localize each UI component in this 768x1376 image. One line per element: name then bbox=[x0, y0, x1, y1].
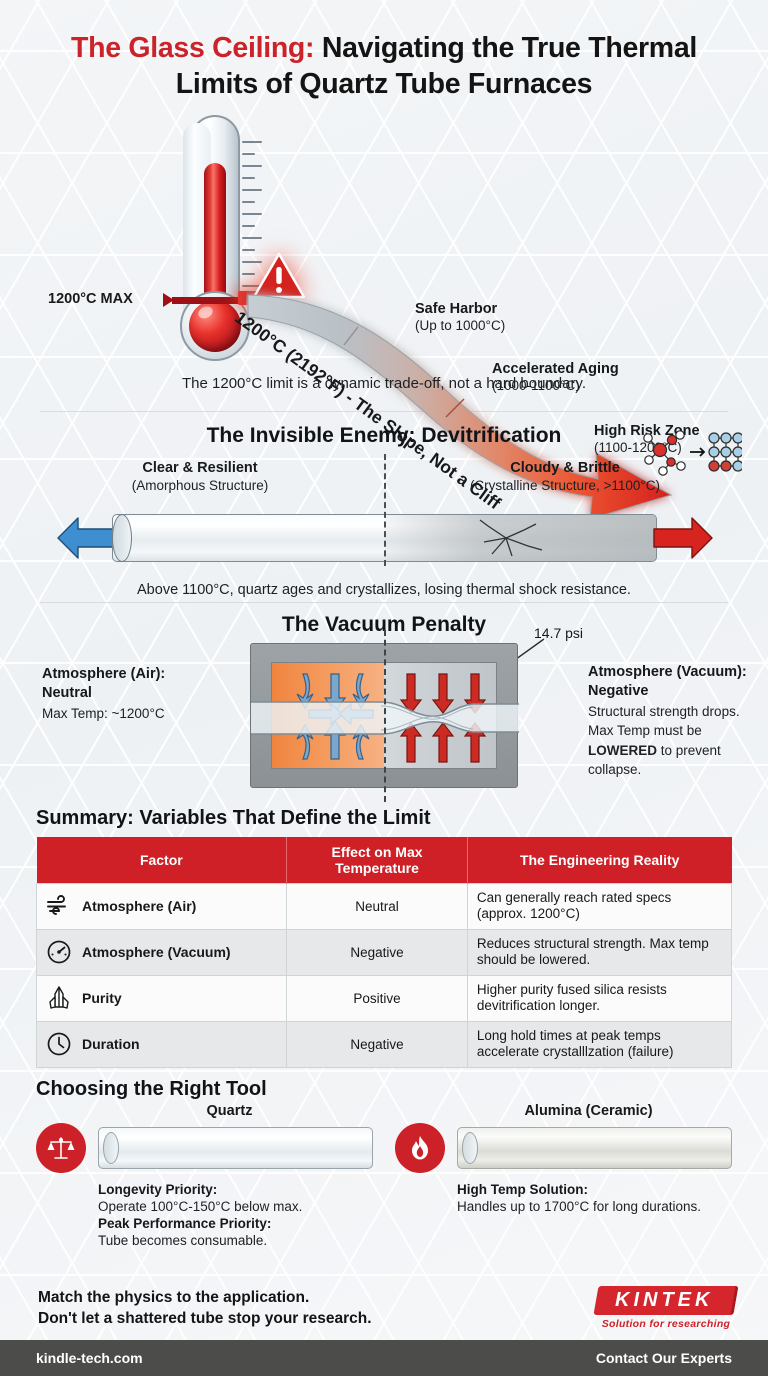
footer-cta-link[interactable]: Contact Our Experts bbox=[596, 1350, 732, 1366]
air-body: Max Temp: ~1200°C bbox=[42, 705, 227, 723]
table-row: Purity Positive Higher purity fused sili… bbox=[37, 975, 732, 1021]
devitrification-section: The Invisible Enemy: Devitrification bbox=[0, 412, 768, 602]
vacuum-penalty-section: The Vacuum Penalty Atmosphere (Air): Neu… bbox=[0, 603, 768, 803]
devitrification-right-label: Cloudy & Brittle (Crystalline Structure,… bbox=[400, 460, 730, 494]
label-title: Clear & Resilient bbox=[60, 460, 340, 478]
thermometer-caption: The 1200°C limit is a dynamic trade-off,… bbox=[0, 375, 768, 392]
cell-effect: Neutral bbox=[287, 883, 468, 929]
vacuum-title-2: Negative bbox=[588, 682, 764, 701]
vacuum-body-2: Max Temp must be bbox=[588, 722, 764, 740]
air-title-1: Atmosphere (Air): bbox=[42, 665, 227, 684]
vacuum-title-1: Atmosphere (Vacuum): bbox=[588, 663, 764, 682]
tool-card-quartz: Quartz L bbox=[36, 1103, 373, 1249]
cta-text: Match the physics to the application. Do… bbox=[38, 1288, 372, 1330]
cta-line-1: Match the physics to the application. bbox=[38, 1288, 372, 1309]
page-footer: kindle-tech.com Contact Our Experts bbox=[0, 1340, 768, 1376]
column-header-effect: Effect on Max Temperature bbox=[287, 837, 468, 884]
quartz-tube-diagram bbox=[0, 508, 768, 570]
note-title: Peak Performance Priority: bbox=[98, 1215, 373, 1232]
kintek-logo: KINTEK Solution for researching bbox=[596, 1286, 736, 1330]
devitrification-caption: Above 1100°C, quartz ages and crystalliz… bbox=[0, 582, 768, 598]
table-row: Atmosphere (Air) Neutral Can generally r… bbox=[37, 883, 732, 929]
vacuum-body-3-rest: to prevent bbox=[657, 743, 721, 758]
gauge-icon bbox=[46, 939, 72, 965]
tool-name: Quartz bbox=[36, 1103, 373, 1119]
air-title-2: Neutral bbox=[42, 684, 227, 703]
cell-effect: Negative bbox=[287, 1021, 468, 1067]
vacuum-divider bbox=[384, 630, 386, 802]
vacuum-body-1: Structural strength drops. bbox=[588, 703, 764, 721]
cell-reality: Long hold times at peak temps accelerate… bbox=[467, 1021, 731, 1067]
summary-table: Factor Effect on Max Temperature The Eng… bbox=[36, 837, 732, 1068]
note-body: Tube becomes consumable. bbox=[98, 1232, 373, 1249]
column-header-factor: Factor bbox=[37, 837, 287, 884]
tool-grid: Quartz L bbox=[36, 1103, 732, 1249]
vacuum-air-label: Atmosphere (Air): Neutral Max Temp: ~120… bbox=[42, 665, 227, 722]
table-row: Atmosphere (Vacuum) Negative Reduces str… bbox=[37, 929, 732, 975]
zone-label-safe-harbor: Safe Harbor (Up to 1000°C) bbox=[415, 301, 505, 335]
column-header-reality: The Engineering Reality bbox=[467, 837, 731, 884]
summary-section: Summary: Variables That Define the Limit… bbox=[0, 803, 768, 1068]
psi-label: 14.7 psi bbox=[534, 625, 583, 641]
note-body: Operate 100°C-150°C below max. bbox=[98, 1198, 373, 1215]
vacuum-lowered-emphasis: LOWERED bbox=[588, 743, 657, 758]
heat-direction-arrow-icon bbox=[652, 514, 714, 562]
vacuum-body-3: LOWERED to prevent bbox=[588, 742, 764, 760]
factor-label: Purity bbox=[82, 990, 122, 1006]
note-title: Longevity Priority: bbox=[98, 1181, 373, 1198]
crack-icon bbox=[462, 516, 554, 560]
zone-range: (Up to 1000°C) bbox=[415, 318, 505, 334]
tool-choice-heading: Choosing the Right Tool bbox=[36, 1078, 732, 1101]
label-sub: (Amorphous Structure) bbox=[60, 478, 340, 494]
furnace-chamber bbox=[250, 643, 518, 788]
tool-card-alumina: Alumina (Ceramic) High Temp Solution: Ha… bbox=[395, 1103, 732, 1249]
tool-notes: High Temp Solution: Handles up to 1700°C… bbox=[395, 1181, 732, 1215]
cell-effect: Positive bbox=[287, 975, 468, 1021]
summary-heading: Summary: Variables That Define the Limit bbox=[36, 807, 732, 830]
thermometer-section: 1200°C MAX bbox=[0, 111, 768, 411]
cell-factor: Duration bbox=[37, 1021, 287, 1067]
tool-choice-section: Choosing the Right Tool Quartz bbox=[0, 1068, 768, 1249]
note-body: Handles up to 1700°C for long durations. bbox=[457, 1198, 732, 1215]
table-body: Atmosphere (Air) Neutral Can generally r… bbox=[37, 883, 732, 1067]
cell-effect: Negative bbox=[287, 929, 468, 975]
page-title: The Glass Ceiling: Navigating the True T… bbox=[34, 30, 734, 103]
cool-direction-arrow-icon bbox=[56, 514, 118, 562]
tool-name: Alumina (Ceramic) bbox=[395, 1103, 732, 1119]
flame-icon bbox=[405, 1133, 435, 1163]
logo-tagline: Solution for researching bbox=[596, 1318, 736, 1330]
label-title: Cloudy & Brittle bbox=[400, 460, 730, 478]
scales-icon bbox=[46, 1133, 76, 1163]
crystal-icon bbox=[46, 985, 72, 1011]
cta-line-2: Don't let a shattered tube stop your res… bbox=[38, 1309, 372, 1330]
cell-reality: Can generally reach rated specs (approx.… bbox=[467, 883, 731, 929]
vacuum-body-4: collapse. bbox=[588, 761, 764, 779]
label-sub: (Crystalline Structure, >1100°C) bbox=[400, 478, 730, 494]
factor-label: Duration bbox=[82, 1036, 140, 1052]
logo-text: KINTEK bbox=[615, 1289, 713, 1312]
zone-title: Safe Harbor bbox=[415, 301, 505, 318]
table-header: Factor Effect on Max Temperature The Eng… bbox=[37, 837, 732, 884]
clock-icon bbox=[46, 1031, 72, 1057]
note-title: High Temp Solution: bbox=[457, 1181, 732, 1198]
devitrification-left-label: Clear & Resilient (Amorphous Structure) bbox=[60, 460, 340, 494]
cell-reality: Higher purity fused silica resists devit… bbox=[467, 975, 731, 1021]
factor-label: Atmosphere (Vacuum) bbox=[82, 944, 231, 960]
flame-badge bbox=[395, 1123, 445, 1173]
title-block: The Glass Ceiling: Navigating the True T… bbox=[0, 0, 768, 109]
factor-label: Atmosphere (Air) bbox=[82, 898, 196, 914]
cta-block: Match the physics to the application. Do… bbox=[0, 1284, 768, 1340]
scales-badge bbox=[36, 1123, 86, 1173]
title-accent: The Glass Ceiling: bbox=[71, 32, 314, 64]
infographic-page: The Glass Ceiling: Navigating the True T… bbox=[0, 0, 768, 1376]
alumina-tube-visual bbox=[457, 1127, 732, 1169]
wind-icon bbox=[46, 893, 72, 919]
tool-notes: Longevity Priority: Operate 100°C-150°C … bbox=[36, 1181, 373, 1249]
vacuum-vacuum-label: Atmosphere (Vacuum): Negative Structural… bbox=[588, 663, 764, 779]
cell-factor: Atmosphere (Vacuum) bbox=[37, 929, 287, 975]
table-header-row: Factor Effect on Max Temperature The Eng… bbox=[37, 837, 732, 884]
max-temp-label: 1200°C MAX bbox=[48, 291, 133, 307]
footer-site-url[interactable]: kindle-tech.com bbox=[36, 1350, 143, 1366]
tool-visual-row bbox=[395, 1123, 732, 1173]
transition-divider bbox=[384, 454, 386, 566]
logo-mark: KINTEK bbox=[593, 1286, 738, 1315]
cell-reality: Reduces structural strength. Max temp sh… bbox=[467, 929, 731, 975]
quartz-tube-visual bbox=[98, 1127, 373, 1169]
tube-open-end bbox=[112, 514, 132, 562]
table-row: Duration Negative Long hold times at pea… bbox=[37, 1021, 732, 1067]
cell-factor: Atmosphere (Air) bbox=[37, 883, 287, 929]
cell-factor: Purity bbox=[37, 975, 287, 1021]
tool-visual-row bbox=[36, 1123, 373, 1173]
